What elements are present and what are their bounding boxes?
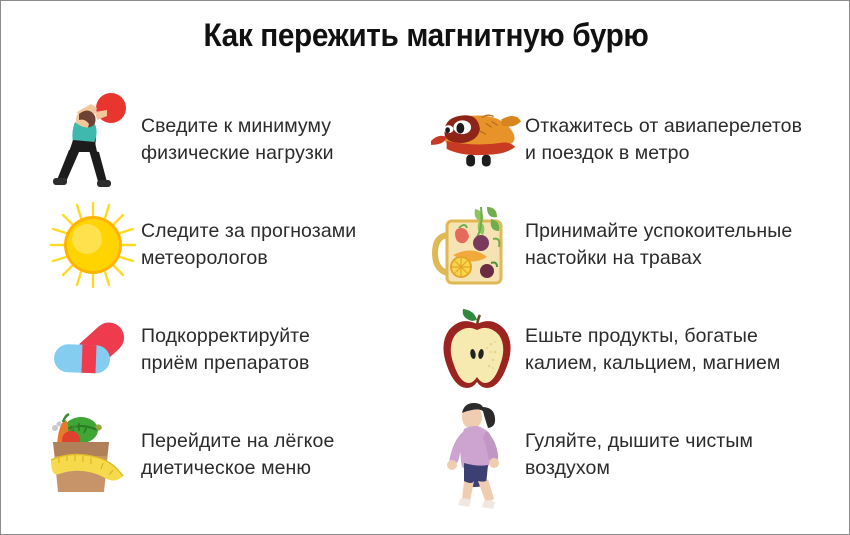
page-title: Как пережить магнитную бурю — [31, 17, 822, 54]
tip-row: Следите за прогнозами метеорологов — [45, 192, 421, 297]
tip-line-1: Перейдите на лёгкое — [141, 430, 334, 452]
tip-line-2: настойки на травах — [525, 245, 792, 272]
tip-line-2: воздухом — [525, 455, 753, 482]
tip-line-2: метеорологов — [141, 245, 356, 272]
tip-line-1: Принимайте успокоительные — [525, 220, 792, 242]
tip-line-1: Откажитесь от авиаперелетов — [525, 115, 802, 137]
herbal-tea-mug-icon — [429, 193, 525, 297]
tip-line-1: Следите за прогнозами — [141, 220, 356, 242]
tip-row: Откажитесь от авиаперелетов и поездок в … — [429, 87, 850, 192]
tip-line-1: Ешьте продукты, богатые — [525, 325, 758, 347]
infographic-card: Как пережить магнитную бурю — [0, 0, 850, 535]
tip-line-1: Гуляйте, дышите чистым — [525, 430, 753, 452]
tip-row: Сведите к минимуму физические нагрузки — [45, 87, 421, 192]
tip-line-2: и поездок в метро — [525, 140, 802, 167]
tip-text: Откажитесь от авиаперелетов и поездок в … — [525, 113, 802, 167]
tip-row: Принимайте успокоительные настойки на тр… — [429, 192, 850, 297]
woman-exercising-with-ball-icon — [45, 88, 141, 192]
tip-row: Подкорректируйте приём препаратов — [45, 297, 421, 402]
tip-line-1: Подкорректируйте — [141, 325, 310, 347]
tip-line-2: калием, кальцием, магнием — [525, 350, 780, 377]
tip-line-2: физические нагрузки — [141, 140, 334, 167]
walking-woman-icon — [429, 403, 525, 507]
grocery-bag-measuring-tape-icon — [45, 403, 141, 507]
tips-column-right: Откажитесь от авиаперелетов и поездок в … — [421, 87, 850, 507]
halved-apple-icon — [429, 298, 525, 402]
tip-text: Сведите к минимуму физические нагрузки — [141, 113, 334, 167]
tips-columns: Сведите к минимуму физические нагрузки — [1, 87, 850, 507]
tip-text: Гуляйте, дышите чистым воздухом — [525, 428, 753, 482]
pills-capsules-icon — [45, 298, 141, 402]
tip-text: Следите за прогнозами метеорологов — [141, 218, 356, 272]
tip-row: Гуляйте, дышите чистым воздухом — [429, 402, 850, 507]
tip-row: Ешьте продукты, богатые калием, кальцием… — [429, 297, 850, 402]
tip-text: Перейдите на лёгкое диетическое меню — [141, 428, 334, 482]
tip-text: Подкорректируйте приём препаратов — [141, 323, 310, 377]
tip-text: Ешьте продукты, богатые калием, кальцием… — [525, 323, 780, 377]
tip-row: Перейдите на лёгкое диетическое меню — [45, 402, 421, 507]
airplane-icon — [429, 88, 525, 192]
tip-text: Принимайте успокоительные настойки на тр… — [525, 218, 792, 272]
tip-line-2: приём препаратов — [141, 350, 310, 377]
tip-line-2: диетическое меню — [141, 455, 334, 482]
sun-icon — [45, 193, 141, 297]
tip-line-1: Сведите к минимуму — [141, 115, 331, 137]
tips-column-left: Сведите к минимуму физические нагрузки — [1, 87, 421, 507]
